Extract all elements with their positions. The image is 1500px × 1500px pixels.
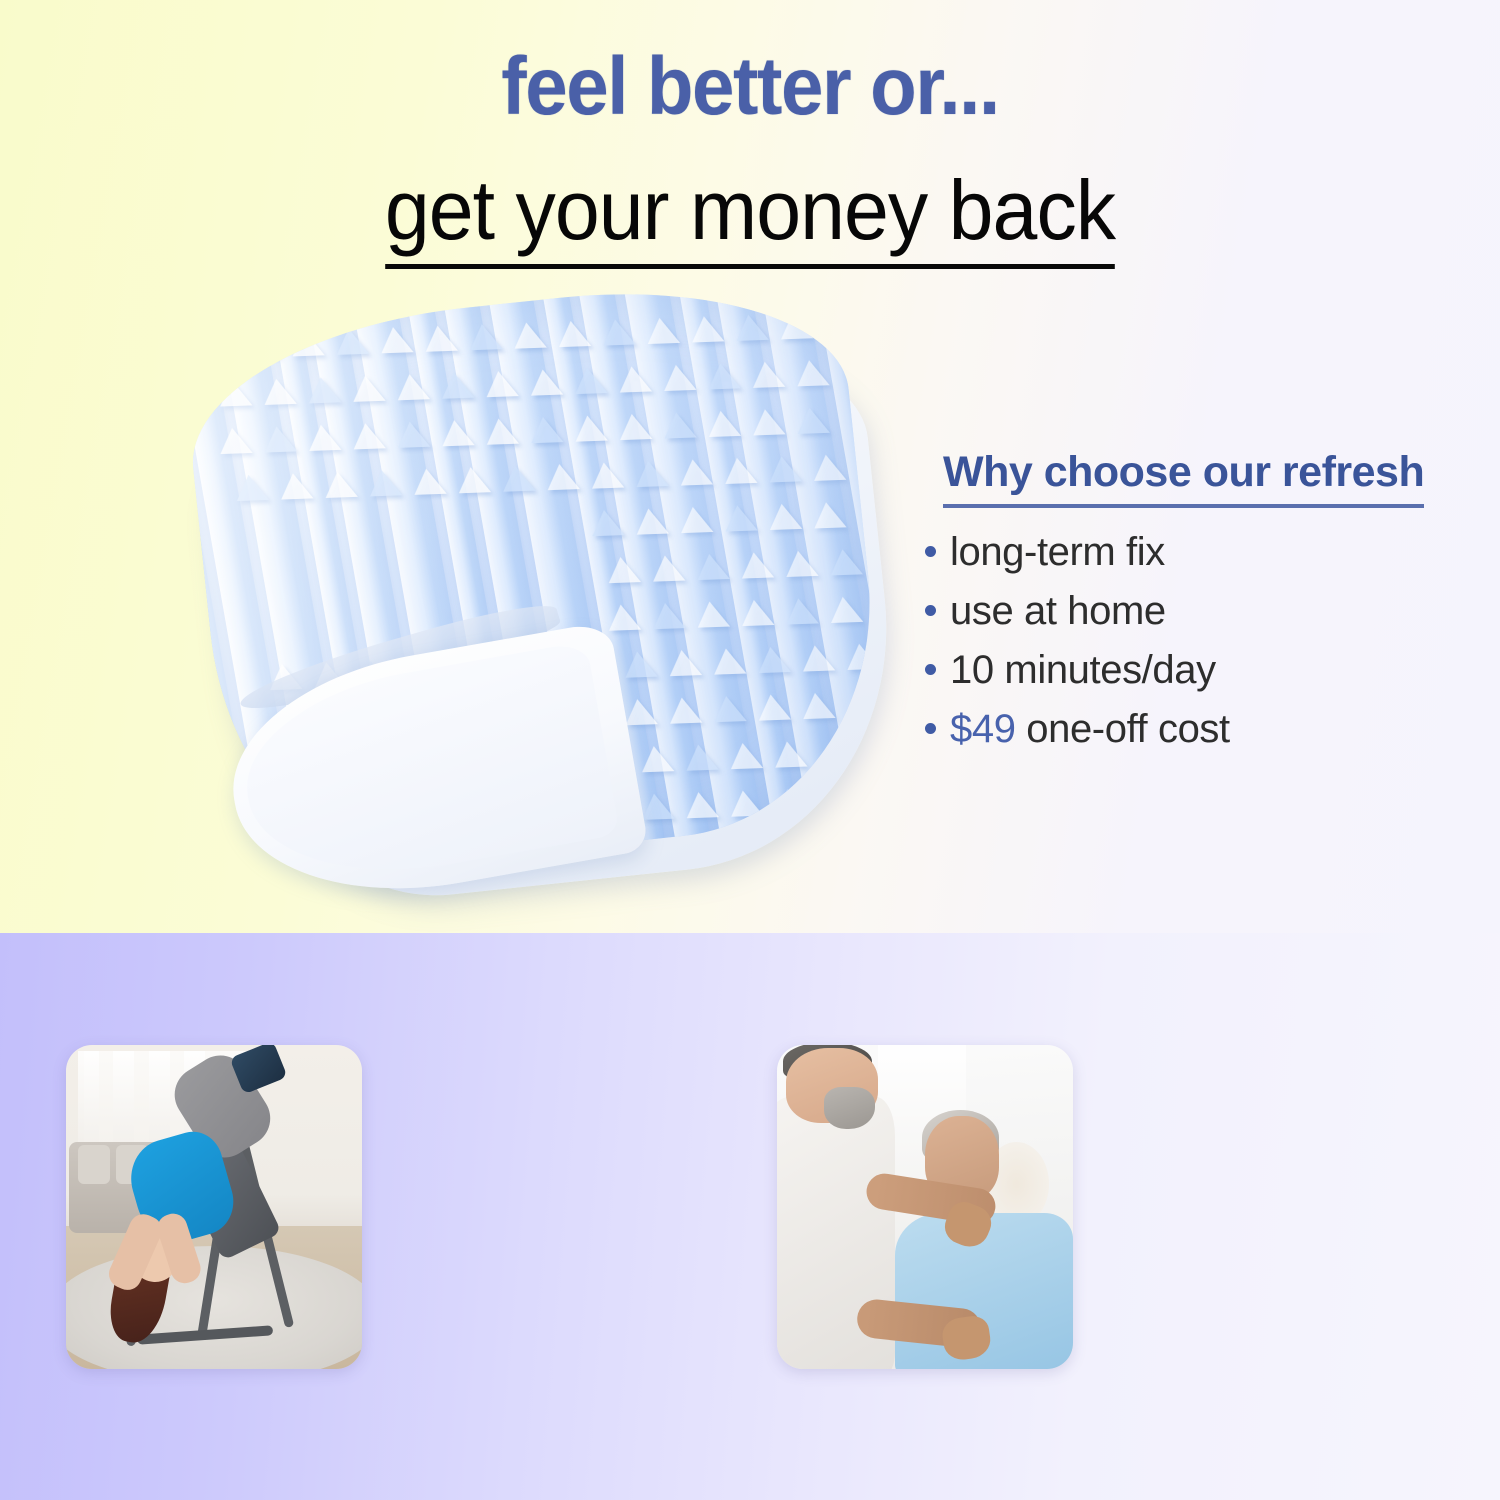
stretcher-nub [726,742,763,769]
stretcher-nub [815,787,852,814]
stretcher-nub [676,459,713,486]
stretcher-nub [754,694,791,721]
inversion-photo-content [66,1045,362,1369]
stretcher-nub [721,457,758,484]
stretcher-nub [860,785,893,812]
stretcher-nub [421,325,458,352]
stretcher-nub [704,410,741,437]
stretcher-nub [810,502,847,529]
stretcher-nub [666,697,703,724]
list-item: use at home [925,589,1465,634]
stretcher-nub [860,738,894,765]
stretcher-nub [815,739,852,766]
stretcher-nub [305,424,342,451]
stretcher-nub [438,420,475,447]
stretcher-nub [216,427,253,454]
promo-poster: feel better or... get your money back Wh… [0,0,1500,1500]
stretcher-nub [244,331,281,358]
stretcher-nub [660,364,697,391]
stretcher-nub [288,330,325,357]
price-suffix: one-off cost [1016,707,1230,751]
stretcher-nub [199,333,236,360]
stretcher-nub [349,423,386,450]
stretcher-nub [616,413,653,440]
stretcher-nub [393,374,430,401]
stretcher-nub [588,509,625,536]
stretcher-nub [466,323,503,350]
stretcher-nub [321,471,358,498]
stretcher-nub [799,692,836,719]
price-value: $49 one-off cost [950,707,1230,752]
refresh-bullet-list: long-term fix use at home 10 minutes/day… [925,530,1465,752]
stretcher-nub [216,380,253,407]
top-panel: feel better or... get your money back Wh… [0,0,1500,933]
price-amount: $49 [950,707,1016,751]
stretcher-nub [615,366,652,393]
list-item-label: use at home [950,589,1166,634]
bullet-dot-icon [925,723,936,734]
stretcher-nub [721,505,758,532]
stretcher-nub [710,695,747,722]
bullet-dot-icon [925,605,936,616]
stretcher-nub [588,462,625,489]
bottom-panel: inversion tables cause headaches increas… [0,933,1500,1500]
stretcher-nub [632,508,669,535]
stretcher-nub [638,746,675,773]
cushion [78,1145,111,1184]
headline-line-2-underlined: get your money back [385,168,1115,269]
stretcher-nub [677,506,714,533]
stretcher-nub [304,377,341,404]
stretcher-nub [843,643,880,670]
refresh-title: Why choose our refresh [943,448,1424,508]
product-image [150,280,950,920]
headline-line-2: get your money back [30,168,1470,269]
list-item-label: 10 minutes/day [950,648,1216,693]
stretcher-nub [438,372,475,399]
headline-line-1: feel better or... [53,46,1448,128]
stretcher-nub [693,553,730,580]
chiropractor-photo-content [777,1045,1073,1369]
stretcher-nub [604,604,641,631]
stretcher-nub [649,555,686,582]
stretcher-nub [510,322,547,349]
stretcher-nub [260,378,297,405]
stretcher-nub [810,454,847,481]
stretcher-nub [526,369,563,396]
stretcher-nub [527,416,564,443]
stretcher-nub [454,467,491,494]
stretcher-nub [621,651,658,678]
stretcher-nub [604,556,641,583]
list-item-label: long-term fix [950,530,1165,575]
stretcher-nub [260,426,297,453]
back-stretcher-illustration [176,265,935,933]
refresh-benefits-block: Why choose our refresh long-term fix use… [925,448,1465,766]
stretcher-nub [366,470,403,497]
stretcher-nub [843,691,880,718]
stretcher-nub [738,599,775,626]
stretcher-nub [332,328,369,355]
bullet-dot-icon [925,546,936,557]
stretcher-nub [410,468,447,495]
stretcher-nub [693,601,730,628]
stretcher-nub [799,645,836,672]
stretcher-nub [737,552,774,579]
stretcher-nub [599,319,636,346]
stretcher-nub [777,313,814,340]
stretcher-nub [571,415,608,442]
stretcher-nub [649,602,686,629]
stretcher-nub [782,550,819,577]
stretcher-nub [571,367,608,394]
stretcher-nub [827,596,864,623]
stretcher-nub [277,473,314,500]
stretcher-nub [754,646,791,673]
stretcher-nub [499,465,536,492]
stretcher-nub [771,741,808,768]
stretcher-nub [482,370,519,397]
list-item: long-term fix [925,530,1465,575]
stretcher-nub [704,363,741,390]
stretcher-nub [394,421,431,448]
stretcher-nub [682,744,719,771]
stretcher-nub [377,327,414,354]
stretcher-nub [782,598,819,625]
stretcher-nub [554,320,591,347]
stretcher-nub [765,503,802,530]
stretcher-nub [826,549,863,576]
stretcher-nub [665,649,702,676]
stretcher-nub [660,412,697,439]
list-item: 10 minutes/day [925,648,1465,693]
stretcher-nub [349,375,386,402]
stretcher-nub [749,361,786,388]
stretcher-nub [482,418,519,445]
stretcher-nub [632,460,669,487]
stretcher-nub [543,463,580,490]
stretcher-nub [688,316,725,343]
stretcher-nub [232,474,269,501]
stretcher-nub [765,456,802,483]
stretcher-nub [643,317,680,344]
stretcher-nub [793,360,830,387]
stretcher-nub [771,788,808,815]
list-item-price: $49 one-off cost [925,707,1465,752]
stretcher-nub [727,790,764,817]
stretcher-nub [710,648,747,675]
bullet-dot-icon [925,664,936,675]
stretcher-nub [732,314,769,341]
chiropractor-photo [777,1045,1073,1369]
stretcher-nub [793,407,830,434]
stretcher-nub [682,792,719,819]
stretcher-nub [749,409,786,436]
inversion-table-photo [66,1045,362,1369]
